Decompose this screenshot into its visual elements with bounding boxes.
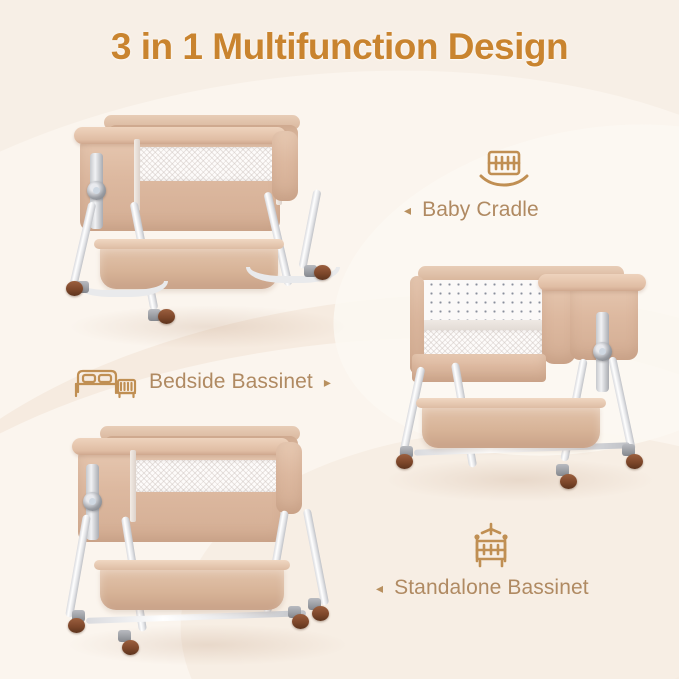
label-row-standalone-bassinet: ◂ Standalone Bassinet bbox=[376, 576, 606, 600]
basket-near-rail bbox=[74, 127, 286, 144]
crib-with-mobile-icon bbox=[376, 520, 606, 570]
leg-front-right bbox=[298, 189, 321, 269]
leg-rear-right bbox=[303, 508, 330, 606]
wheel-left-front bbox=[158, 309, 175, 324]
wheel-right-front bbox=[312, 606, 329, 621]
label-text-baby-cradle: Baby Cradle bbox=[422, 198, 539, 222]
wheel-left-rear bbox=[66, 281, 83, 296]
mesh-window bbox=[134, 460, 284, 492]
label-standalone-bassinet: ◂ Standalone Bassinet bbox=[376, 520, 606, 600]
ground-shadow bbox=[66, 624, 350, 666]
label-bedside-bassinet: Bedside Bassinet ▸ bbox=[72, 362, 331, 402]
basket-body bbox=[78, 444, 284, 542]
ground-shadow bbox=[384, 458, 656, 502]
height-adjuster-knob bbox=[87, 181, 106, 200]
page-title: 3 in 1 Multifunction Design bbox=[0, 26, 679, 68]
leg-rear-right bbox=[608, 356, 636, 452]
storage-tray-lip bbox=[94, 560, 290, 570]
wheel-left-front bbox=[122, 640, 139, 655]
basket-near-rail bbox=[72, 438, 290, 455]
wheel-right-rear bbox=[314, 265, 331, 280]
storage-tray bbox=[422, 404, 600, 448]
cradle-rocking-icon bbox=[404, 146, 604, 192]
mesh-window bbox=[138, 147, 280, 181]
product-image-baby-cradle bbox=[58, 105, 358, 355]
storage-tray-lip bbox=[94, 239, 284, 249]
arrow-left-icon: ◂ bbox=[404, 203, 411, 217]
basket-lower-skirt bbox=[412, 354, 546, 382]
basket-side-panel bbox=[272, 131, 298, 201]
wheel-left-rear bbox=[396, 454, 413, 469]
infographic-page: 3 in 1 Multifunction Design bbox=[0, 0, 679, 679]
product-image-bedside-bassinet bbox=[374, 258, 666, 508]
label-row-bedside-bassinet: Bedside Bassinet ▸ bbox=[72, 362, 331, 402]
height-adjuster-knob bbox=[83, 492, 102, 511]
label-text-standalone-bassinet: Standalone Bassinet bbox=[394, 576, 589, 600]
wheel-right-rear bbox=[626, 454, 643, 469]
label-row-baby-cradle: ◂ Baby Cradle bbox=[404, 198, 604, 222]
label-text-bedside-bassinet: Bedside Bassinet bbox=[149, 370, 313, 394]
basket-near-rail-right bbox=[538, 274, 646, 291]
bed-with-bassinet-icon bbox=[72, 362, 138, 402]
strap-left bbox=[130, 450, 136, 522]
strap-left bbox=[134, 139, 140, 211]
arrow-right-icon: ▸ bbox=[324, 375, 331, 389]
storage-tray bbox=[100, 566, 284, 610]
arrow-left-icon: ◂ bbox=[376, 581, 383, 595]
storage-tray-lip bbox=[416, 398, 606, 408]
wheel-left-rear bbox=[68, 618, 85, 633]
product-image-standalone-bassinet bbox=[56, 418, 356, 668]
ground-shadow bbox=[68, 305, 348, 349]
wheel-right-rear bbox=[292, 614, 309, 629]
frame-crossbar bbox=[86, 610, 306, 624]
basket-side-panel bbox=[276, 442, 302, 514]
wheel-left-front bbox=[560, 474, 577, 489]
label-baby-cradle: ◂ Baby Cradle bbox=[404, 146, 604, 222]
